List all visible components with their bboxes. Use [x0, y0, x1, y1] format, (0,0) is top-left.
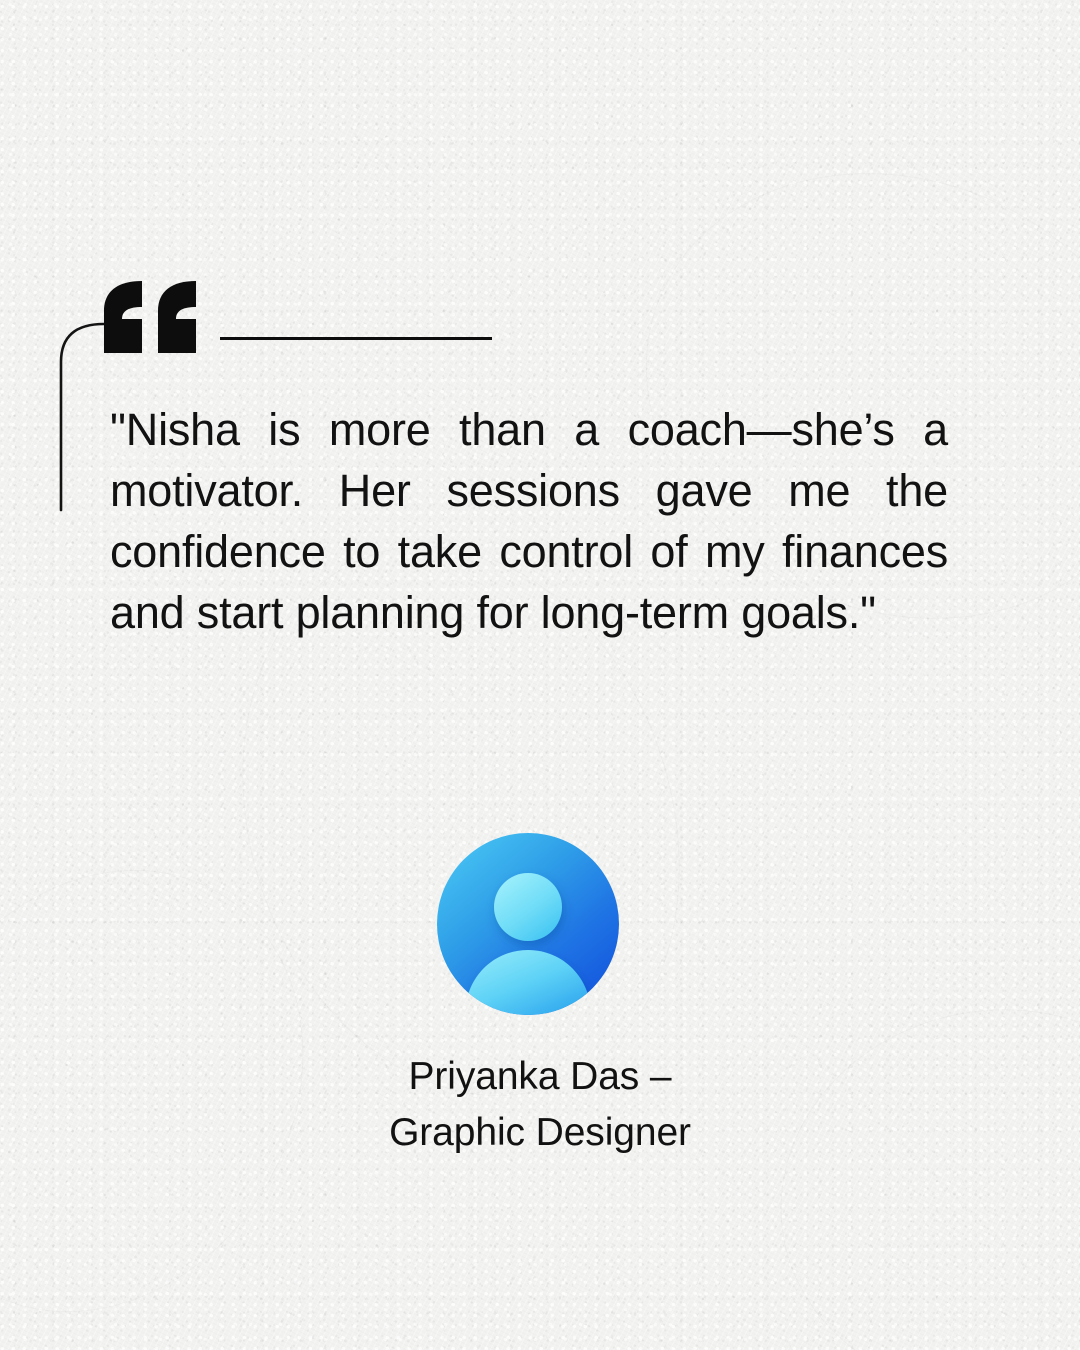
paper-swirl-mark: [753, 979, 1080, 1350]
quote-header: [104, 281, 492, 353]
testimonial-card: "Nisha is more than a coach—she’s a moti…: [0, 0, 1080, 1350]
quotation-mark-icon: [104, 281, 196, 353]
author-role: Graphic Designer: [0, 1105, 1080, 1161]
author-name: Priyanka Das –: [0, 1049, 1080, 1105]
user-avatar-icon: [437, 833, 619, 1015]
author-attribution: Priyanka Das – Graphic Designer: [0, 1049, 1080, 1161]
horizontal-rule-icon: [220, 337, 492, 340]
decorative-bracket-icon: [52, 322, 112, 517]
quote-text: "Nisha is more than a coach—she’s a moti…: [110, 399, 948, 643]
